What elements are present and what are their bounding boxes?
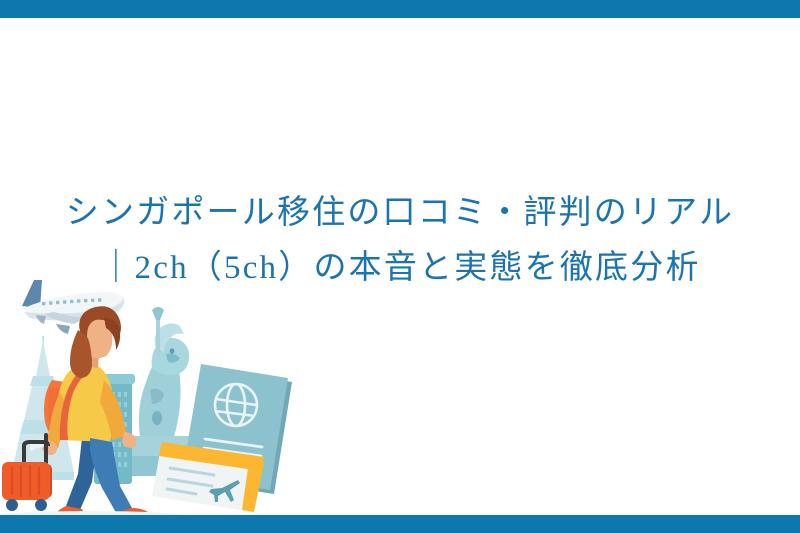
top-accent-bar bbox=[0, 0, 800, 18]
bottom-accent-bar bbox=[0, 515, 800, 533]
traveler-figure bbox=[42, 306, 150, 516]
article-header-card: シンガポール移住の口コミ・評判のリアル｜2ch（5ch）の本音と実態を徹底分析 bbox=[0, 0, 800, 533]
travel-scene-illustration bbox=[0, 258, 310, 516]
